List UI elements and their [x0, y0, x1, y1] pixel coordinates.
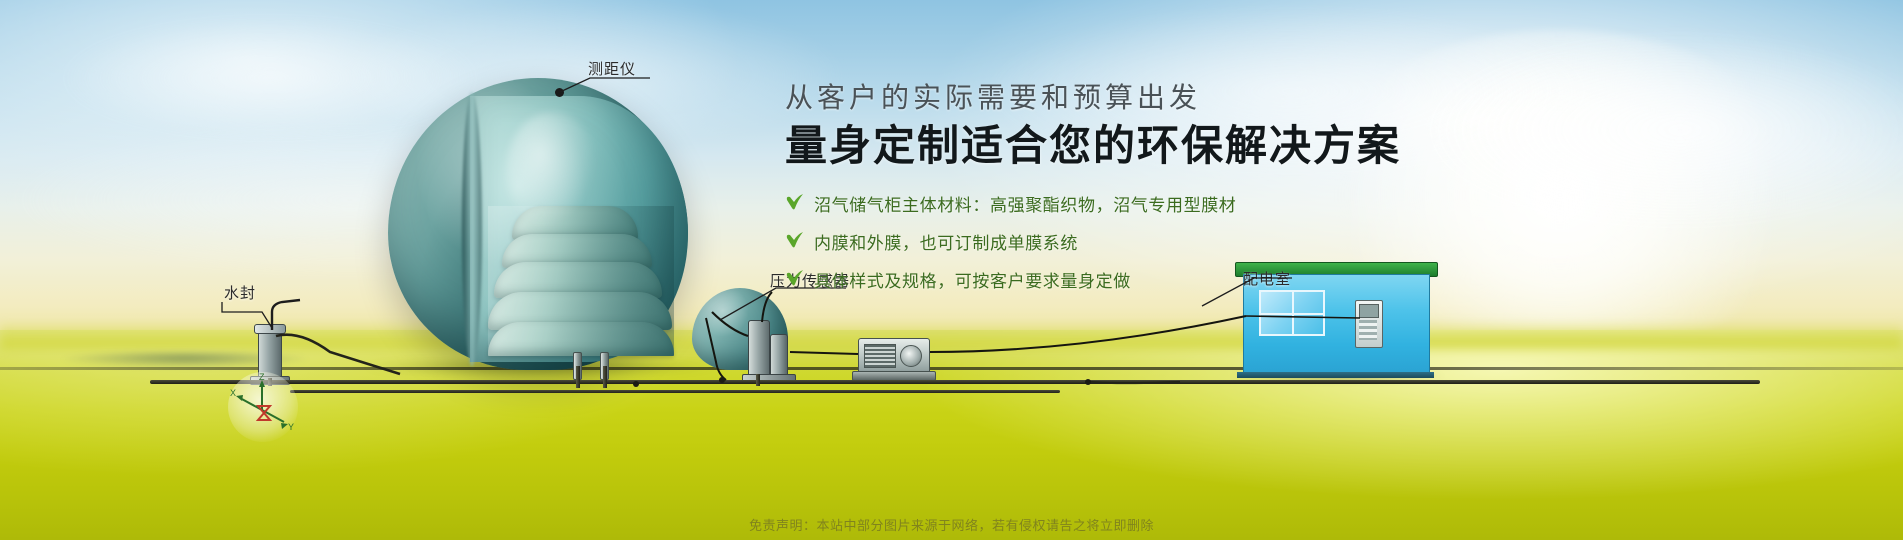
dome-highlight [506, 112, 598, 230]
axis-label-y: Y [288, 422, 294, 432]
feature-item: 具体样式及规格，可按客户要求量身定做 [785, 267, 1835, 292]
pipe-riser [576, 366, 580, 388]
axis-label-x: X [230, 388, 236, 398]
feature-item: 沼气储气柜主体材料：高强聚酯织物，沼气专用型膜材 [785, 191, 1835, 216]
hero-headline: 量身定制适合您的环保解决方案 [785, 121, 1835, 171]
pipe-riser [603, 366, 607, 388]
secondary-pipeline [290, 390, 1060, 393]
control-panel-screen [1359, 304, 1379, 318]
feature-item: 内膜和外膜，也可订制成单膜系统 [785, 229, 1835, 254]
feature-list: 沼气储气柜主体材料：高强聚酯织物，沼气专用型膜材 内膜和外膜，也可订制成单膜系统… [785, 191, 1835, 292]
blower-fan-icon [900, 345, 922, 367]
leader-line-rangefinder [550, 66, 680, 100]
main-gas-pipeline [150, 380, 1760, 384]
biogas-dome [388, 78, 688, 370]
control-panel-buttons [1359, 320, 1377, 340]
axis-gizmo-arrows: Z X Y [228, 372, 298, 442]
house-foundation [1237, 372, 1434, 378]
inner-membrane-stack [488, 206, 674, 356]
feature-text: 内膜和外膜，也可订制成单膜系统 [814, 229, 1078, 254]
dome-cut-rim [462, 92, 482, 366]
ground-line [0, 367, 1903, 370]
check-circle-icon [785, 270, 804, 289]
pipe-riser [756, 374, 760, 386]
check-circle-icon [785, 194, 804, 213]
feature-text: 沼气储气柜主体材料：高强聚酯织物，沼气专用型膜材 [814, 191, 1236, 216]
leader-line-water-seal [218, 298, 288, 338]
membrane-step [488, 322, 674, 356]
hero-banner: Z X Y 测距仪 水封 压力传感器 配电室 从客户的实际需要和预算出发 量身定… [0, 0, 1903, 540]
feature-text: 具体样式及规格，可按客户要求量身定做 [814, 267, 1131, 292]
blower-grill [864, 344, 896, 368]
hero-kicker: 从客户的实际需要和预算出发 [785, 80, 1835, 115]
hero-copy-block: 从客户的实际需要和预算出发 量身定制适合您的环保解决方案 沼气储气柜主体材料：高… [785, 80, 1835, 305]
disclaimer-text: 免责声明：本站中部分图片来源于网络，若有侵权请告之将立即删除 [0, 515, 1903, 534]
check-circle-icon [785, 232, 804, 251]
axis-label-z: Z [259, 372, 265, 382]
